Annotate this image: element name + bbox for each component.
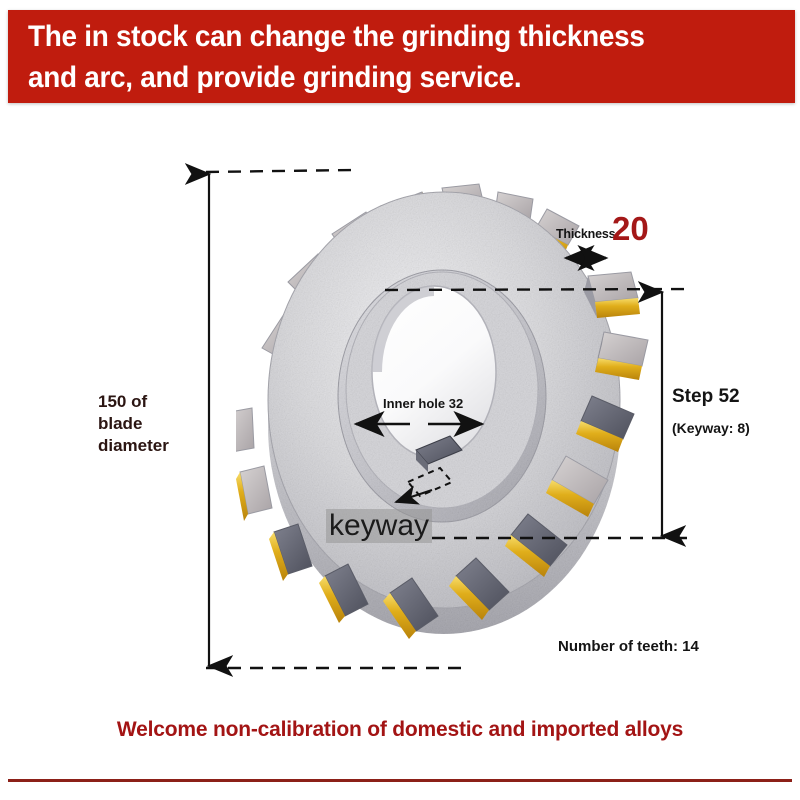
product-spec-image: The in stock can change the grinding thi…	[0, 0, 800, 800]
label-keyway: keyway	[326, 509, 432, 543]
saw-blade-graphic	[236, 164, 656, 684]
saw-blade-illustration	[236, 164, 656, 684]
footer-divider	[8, 779, 792, 782]
label-number-of-teeth: Number of teeth: 14	[558, 638, 699, 655]
headline-text: The in stock can change the grinding thi…	[28, 16, 735, 98]
label-keyway-size: (Keyway: 8)	[672, 420, 750, 436]
label-blade-diameter: 150 of blade diameter	[98, 391, 228, 457]
label-thickness: Thickness	[556, 227, 615, 241]
diagram-stage: 150 of blade diameter Thickness 20 Step …	[0, 104, 800, 704]
headline-banner: The in stock can change the grinding thi…	[8, 10, 795, 103]
label-step: Step 52	[672, 386, 740, 408]
footer-slogan: Welcome non-calibration of domestic and …	[0, 718, 800, 742]
label-inner-hole: Inner hole 32	[383, 396, 463, 411]
inner-hole	[372, 286, 496, 458]
label-thickness-value: 20	[612, 212, 649, 245]
